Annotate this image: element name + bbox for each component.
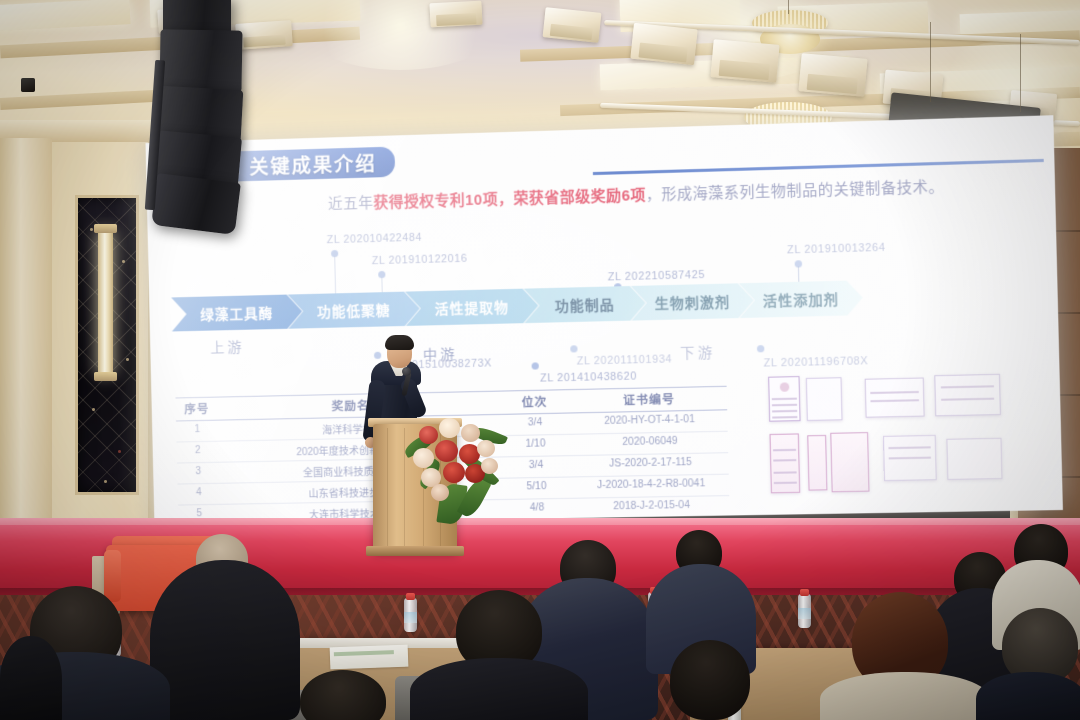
flow-step: 功能制品: [524, 286, 646, 323]
cell-no: 1: [176, 423, 218, 439]
stage-par-light: [429, 1, 482, 28]
patent-label: ZL 201410438620: [540, 370, 637, 384]
projection-screen: 5. 关键成果介绍 近五年获得授权专利10项，荣获省部级奖励6项，形成海藻系列生…: [146, 115, 1063, 525]
flow-step: 活性提取物: [405, 288, 539, 326]
patent-label: ZL 201910013264: [787, 242, 886, 257]
cell-no: 2: [177, 444, 219, 460]
certificate-thumb: [806, 377, 843, 421]
flow-step: 绿藻工具酶: [171, 294, 302, 331]
conference-photo-scene: 5. 关键成果介绍 近五年获得授权专利10项，荣获省部级奖励6项，形成海藻系列生…: [0, 0, 1080, 720]
patent-label: ZL 201910122016: [372, 253, 468, 268]
patent-label: ZL 202011196708X: [763, 355, 868, 370]
col-header-rank: 位次: [497, 393, 571, 411]
stage-par-light: [543, 7, 602, 43]
certificate-thumb: [768, 376, 800, 422]
cell-rank: 3/4: [498, 416, 572, 433]
subtitle-sep: ，: [498, 192, 514, 209]
subtitle-tail: ，形成海藻系列生物制品的关键制备技术。: [646, 179, 945, 204]
patent-label: ZL 202210587425: [608, 269, 706, 284]
zone-label-downstream: 下游: [680, 342, 716, 363]
certificate-thumb: [807, 435, 827, 491]
cell-cert: 2020-HY-OT-4-1-01: [572, 413, 728, 431]
stage-par-light: [235, 20, 293, 50]
bottle-cap: [800, 589, 809, 596]
patent-label: ZL 202010422484: [327, 232, 423, 247]
cell-rank: 4/8: [500, 501, 574, 517]
handout-paper: [330, 645, 409, 670]
certificate-thumb: [934, 374, 1001, 417]
value-chain-flow: 绿藻工具酶 功能低聚糖 活性提取物 功能制品 生物刺激剂 活性添加剂: [171, 297, 172, 331]
zone-label-upstream: 上游: [210, 337, 245, 358]
cell-rank: 3/4: [499, 459, 573, 476]
line-array-module: [151, 173, 241, 235]
subtitle-lead: 近五年: [328, 196, 374, 213]
audience-person: [150, 560, 300, 720]
flow-step: 功能低聚糖: [288, 291, 421, 328]
patent-label: ZL 202011101934: [577, 353, 673, 367]
microphone-head: [402, 367, 411, 376]
sconce-light-tube: [98, 230, 113, 375]
certificate-gallery: [764, 369, 1031, 497]
audience-head: [670, 640, 750, 720]
podium-base: [366, 546, 464, 556]
cell-rank: 1/10: [498, 437, 572, 454]
wall-mini-speaker: [21, 78, 35, 92]
flow-step: 生物刺激剂: [631, 283, 754, 321]
cell-cert: J-2020-18-4-2-R8-0041: [573, 477, 729, 495]
audience-person: [820, 672, 990, 720]
subtitle-highlight-patents: 获得授权专利10项: [373, 192, 498, 212]
audience-person: [0, 636, 62, 720]
slide-subtitle: 近五年获得授权专利10项，荣获省部级奖励6项，形成海藻系列生物制品的关键制备技术…: [328, 172, 1056, 214]
flower-bouquet: [409, 412, 505, 504]
flow-step: 活性添加剂: [739, 280, 863, 318]
line-array-module: [159, 29, 242, 92]
certificate-thumb: [883, 435, 937, 481]
bottle-cap: [406, 593, 415, 600]
subtitle-highlight-awards: 荣获省部级奖励6项: [513, 188, 646, 208]
col-header-no: 序号: [176, 401, 218, 418]
slide-title-rule: [593, 159, 1044, 175]
certificate-thumb: [865, 377, 925, 417]
cell-no: 3: [177, 465, 219, 481]
audience-person: [976, 672, 1080, 720]
certificate-thumb: [830, 432, 869, 492]
cell-cert: 2020-06049: [572, 434, 728, 452]
stage-par-light: [630, 23, 697, 65]
stage-par-light: [710, 39, 779, 83]
presenter-hair: [385, 335, 414, 350]
certificate-thumb: [946, 438, 1002, 480]
cell-no: 4: [178, 486, 220, 502]
col-header-cert: 证书编号: [571, 390, 727, 410]
cell-cert: 2018-J-2-015-04: [574, 499, 730, 517]
certificate-thumb: [770, 433, 801, 493]
cell-cert: JS-2020-2-17-115: [573, 456, 729, 474]
cell-rank: 5/10: [499, 480, 573, 497]
presentation-slide: 5. 关键成果介绍 近五年获得授权专利10项，荣获省部级奖励6项，形成海藻系列生…: [146, 115, 1063, 525]
stage-par-light: [798, 53, 867, 97]
audience-person: [410, 658, 588, 720]
sofa-arm: [104, 550, 121, 602]
